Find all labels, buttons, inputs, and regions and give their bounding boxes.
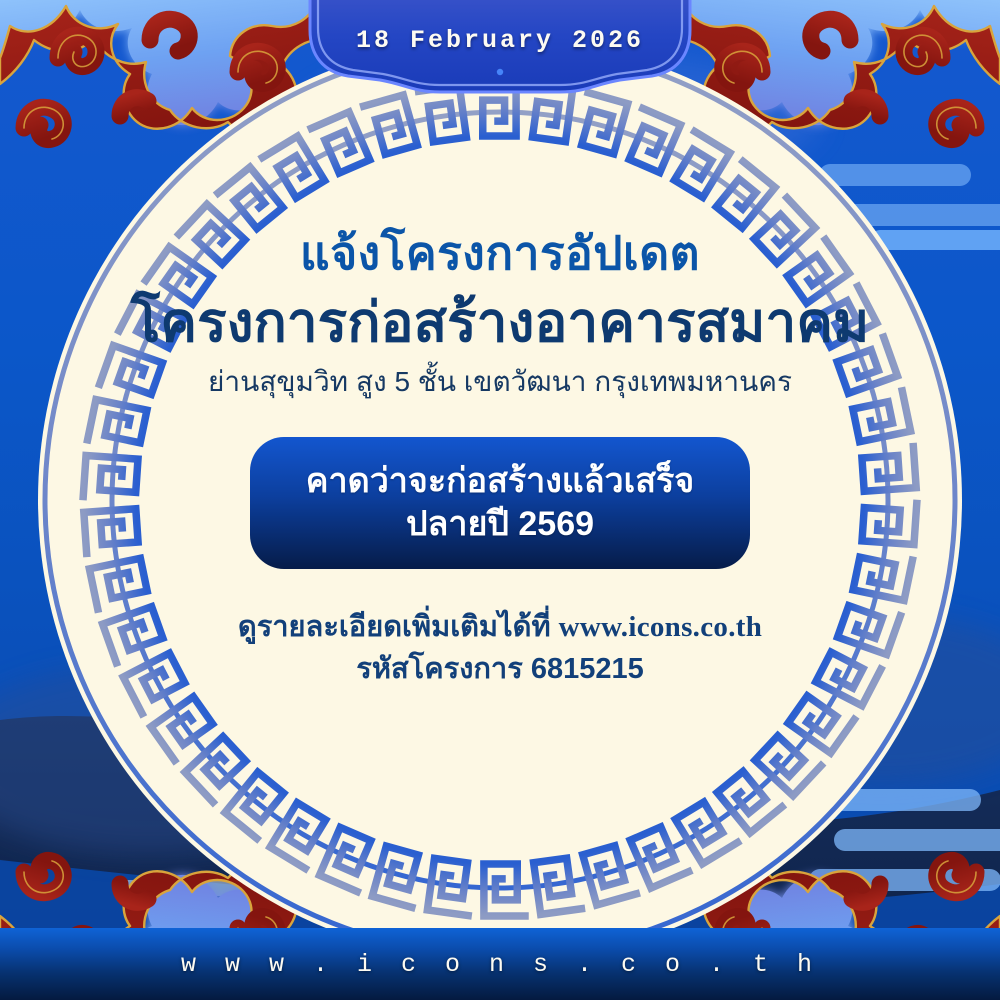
footer-strip: w w w . i c o n s . c o . t h <box>0 928 1000 1000</box>
footer-website-text: w w w . i c o n s . c o . t h <box>181 950 819 979</box>
poster-canvas: 18 February 2026 แจ้งโครงการอัปเดต โครงก… <box>0 0 1000 1000</box>
date-banner-shape <box>0 0 1000 1000</box>
